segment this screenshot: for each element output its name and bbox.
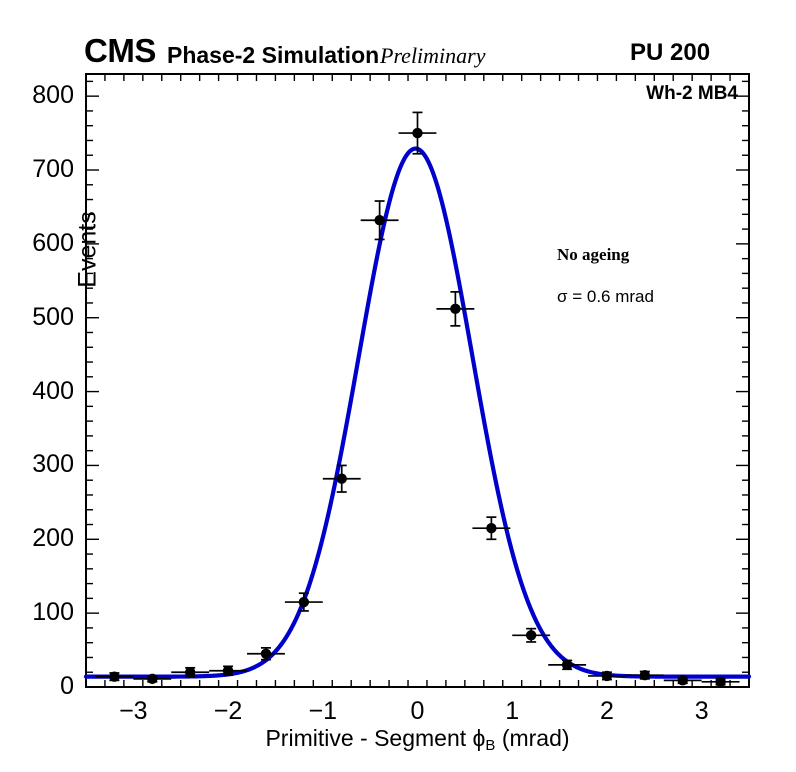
data-layer: [0, 0, 796, 772]
plot-canvas: CMS Phase-2 Simulation Preliminary PU 20…: [0, 0, 796, 772]
data-points: [95, 112, 739, 687]
